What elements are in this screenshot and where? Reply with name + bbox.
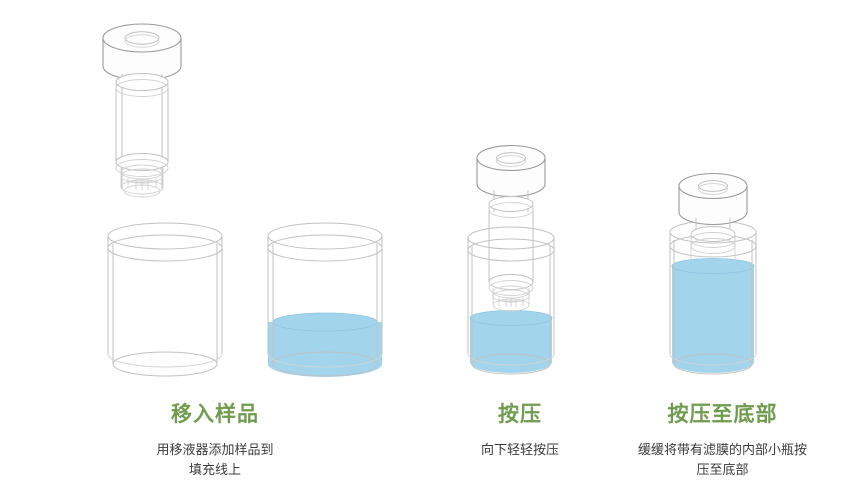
step-description-line-1: 向下轻轻按压 [430, 440, 610, 460]
step-description-line-2: 填充线上 [75, 460, 355, 480]
inner-filter-vial-detached [103, 24, 181, 197]
step-title-press-to-bottom: 按压至底部 [590, 402, 855, 427]
step-description-press-to-bottom: 缓缓将带有滤膜的内部小瓶按 压至底部 [590, 440, 855, 480]
step-description-press: 向下轻轻按压 [430, 440, 610, 460]
outer-vial-empty [108, 223, 222, 376]
vial-assembly-pressing [468, 146, 554, 381]
instruction-diagram-canvas: .ln { fill:none; stroke:#9a9a9a; stroke-… [0, 0, 862, 503]
step-description-transfer-sample: 用移液器添加样品到 填充线上 [75, 440, 355, 480]
step-title-transfer-sample: 移入样品 [75, 402, 355, 427]
outer-vial-filled [266, 223, 384, 382]
vial-assembly-pressed-bottom [670, 174, 756, 377]
step-title-press: 按压 [430, 402, 610, 427]
step-description-line-1: 缓缓将带有滤膜的内部小瓶按 [590, 440, 855, 460]
step-caption-press-to-bottom: 按压至底部 缓缓将带有滤膜的内部小瓶按 压至底部 [590, 402, 855, 480]
step-caption-press: 按压 向下轻轻按压 [430, 402, 610, 460]
step-description-line-1: 用移液器添加样品到 [75, 440, 355, 460]
step-description-line-2: 压至底部 [590, 460, 855, 480]
step-caption-transfer-sample: 移入样品 用移液器添加样品到 填充线上 [75, 402, 355, 480]
